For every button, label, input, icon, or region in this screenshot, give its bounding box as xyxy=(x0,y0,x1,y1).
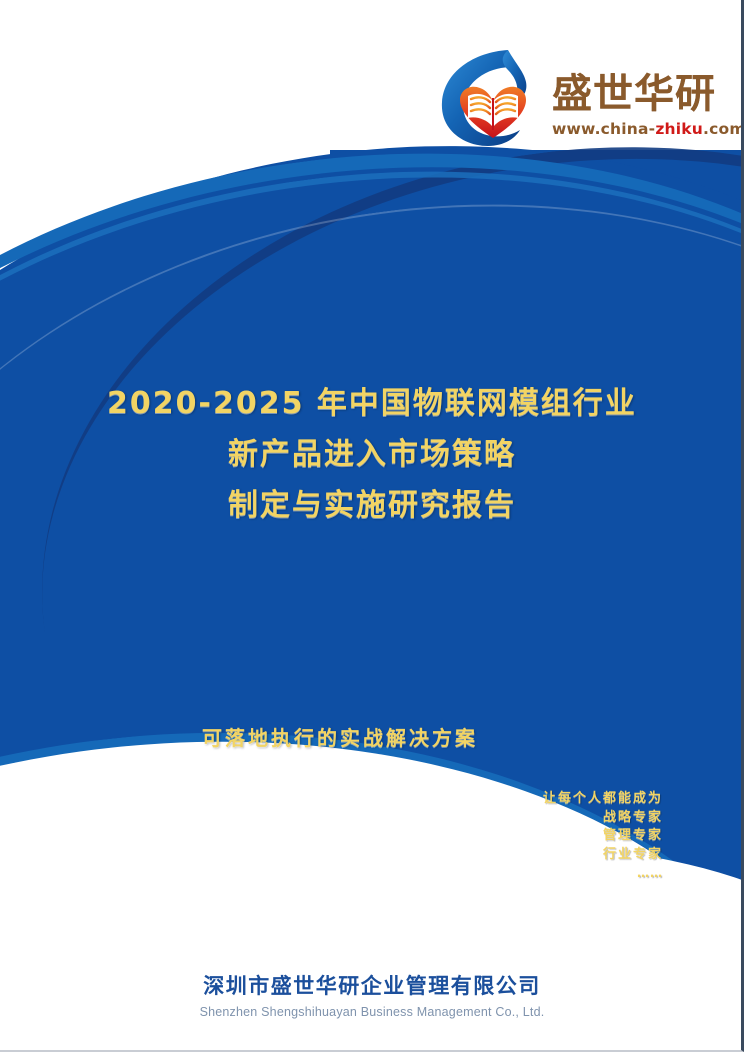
logo-wordmark: 盛世华研 www.china-zhiku.com xyxy=(552,58,744,138)
company-name-en: Shenzhen Shengshihuayan Business Managem… xyxy=(0,1005,744,1019)
report-title: 2020-2025 年中国物联网模组行业 新产品进入市场策略 制定与实施研究报告 xyxy=(0,378,744,531)
slogan-line-2: 战略专家 xyxy=(543,809,663,828)
light-blue-arc xyxy=(0,76,741,1050)
brand-slogan-block: 让每个人都能成为 战略专家 管理专家 行业专家 …… xyxy=(543,790,663,883)
hairline-highlight-arc xyxy=(0,131,741,1050)
slogan-ellipsis: …… xyxy=(543,864,663,883)
flame-book-heart-logo-icon xyxy=(438,46,546,150)
slogan-line-3: 管理专家 xyxy=(543,827,663,846)
cover-footer: 深圳市盛世华研企业管理有限公司 Shenzhen Shengshihuayan … xyxy=(0,972,744,1019)
blue-ellipse-shape xyxy=(0,72,741,1050)
url-prefix: www.china- xyxy=(552,120,655,138)
cover-tagline: 可落地执行的实战解决方案 xyxy=(0,722,744,751)
company-name-cn: 深圳市盛世华研企业管理有限公司 xyxy=(0,972,744,1000)
title-line-3: 制定与实施研究报告 xyxy=(0,480,744,531)
brand-website: www.china-zhiku.com xyxy=(552,120,744,138)
light-blue-arc-secondary xyxy=(0,93,741,1050)
report-cover-page: 盛世华研 www.china-zhiku.com 2020-2025 年中国物联… xyxy=(0,0,744,1052)
navy-shading-arc xyxy=(0,82,741,1039)
brand-name-cn: 盛世华研 xyxy=(552,74,744,114)
blue-field-fill xyxy=(0,300,741,780)
title-line-2: 新产品进入市场策略 xyxy=(0,429,744,480)
title-line-1: 2020-2025 年中国物联网模组行业 xyxy=(0,378,744,429)
company-logo: 盛世华研 www.china-zhiku.com xyxy=(438,44,708,152)
slogan-line-1: 让每个人都能成为 xyxy=(543,790,663,809)
url-suffix: .com xyxy=(703,120,744,138)
slogan-line-4: 行业专家 xyxy=(543,846,663,865)
url-highlight: zhiku xyxy=(655,120,703,138)
